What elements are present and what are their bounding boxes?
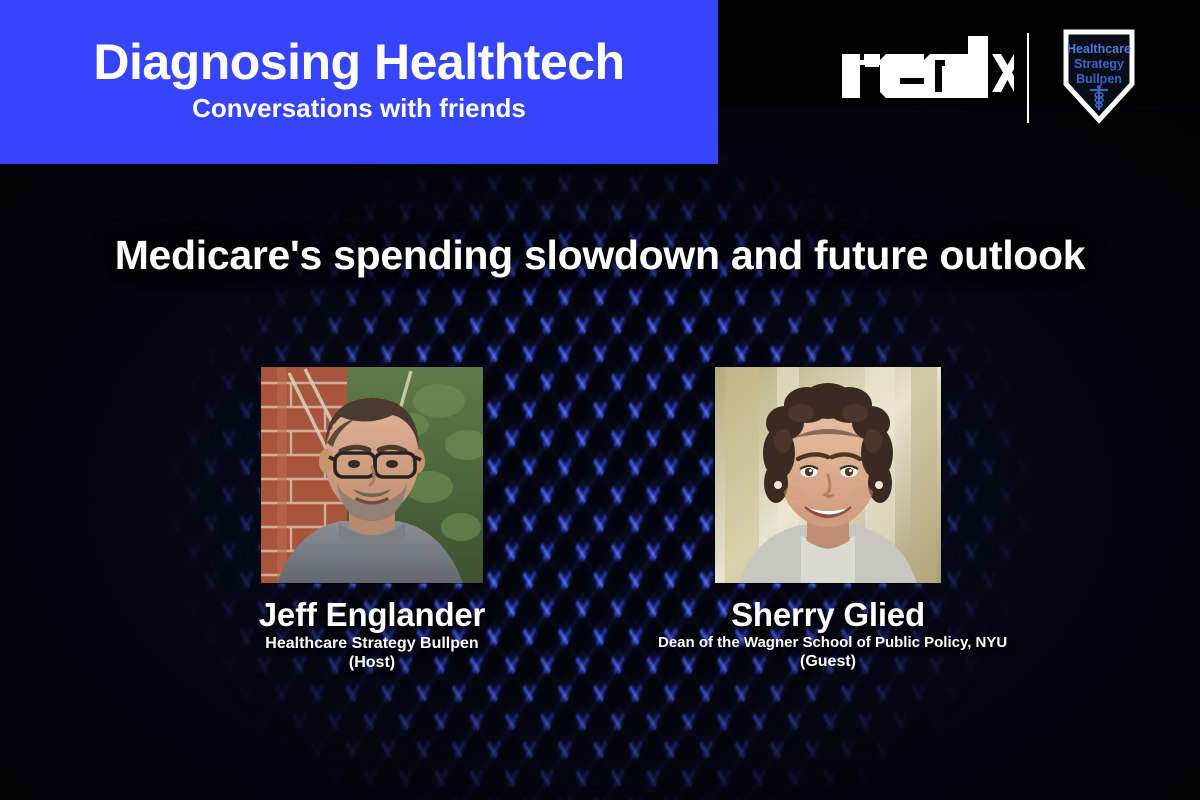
episode-cover-graphic: Diagnosing Healthtech Conversations with… bbox=[0, 0, 1200, 800]
hsb-line2: Strategy bbox=[1074, 57, 1124, 71]
speakers-row: Jeff Englander Healthcare Strategy Bullp… bbox=[0, 367, 1200, 673]
speaker-card-guest: Sherry Glied Dean of the Wagner School o… bbox=[658, 367, 998, 671]
healthcare-strategy-bullpen-logo: Healthcare Strategy Bullpen bbox=[1058, 26, 1140, 128]
episode-title: Medicare's spending slowdown and future … bbox=[0, 232, 1200, 279]
speaker-card-host: Jeff Englander Healthcare Strategy Bullp… bbox=[202, 367, 542, 673]
avatar bbox=[261, 367, 483, 583]
redox-logo bbox=[842, 36, 1014, 98]
speaker-role: (Guest) bbox=[658, 652, 998, 672]
logo-divider bbox=[1027, 33, 1029, 123]
speaker-organization: Healthcare Strategy Bullpen bbox=[202, 634, 542, 654]
speaker-name: Sherry Glied bbox=[658, 597, 998, 633]
speaker-organization: Dean of the Wagner School of Public Poli… bbox=[658, 634, 998, 652]
show-subtitle: Conversations with friends bbox=[192, 95, 526, 121]
hsb-line3: Bullpen bbox=[1076, 72, 1122, 86]
show-brand-banner: Diagnosing Healthtech Conversations with… bbox=[0, 0, 718, 164]
show-title: Diagnosing Healthtech bbox=[93, 37, 624, 88]
speaker-role: (Host) bbox=[202, 653, 542, 673]
speaker-name: Jeff Englander bbox=[202, 597, 542, 633]
hsb-line1: Healthcare bbox=[1067, 42, 1131, 56]
avatar bbox=[715, 367, 941, 583]
